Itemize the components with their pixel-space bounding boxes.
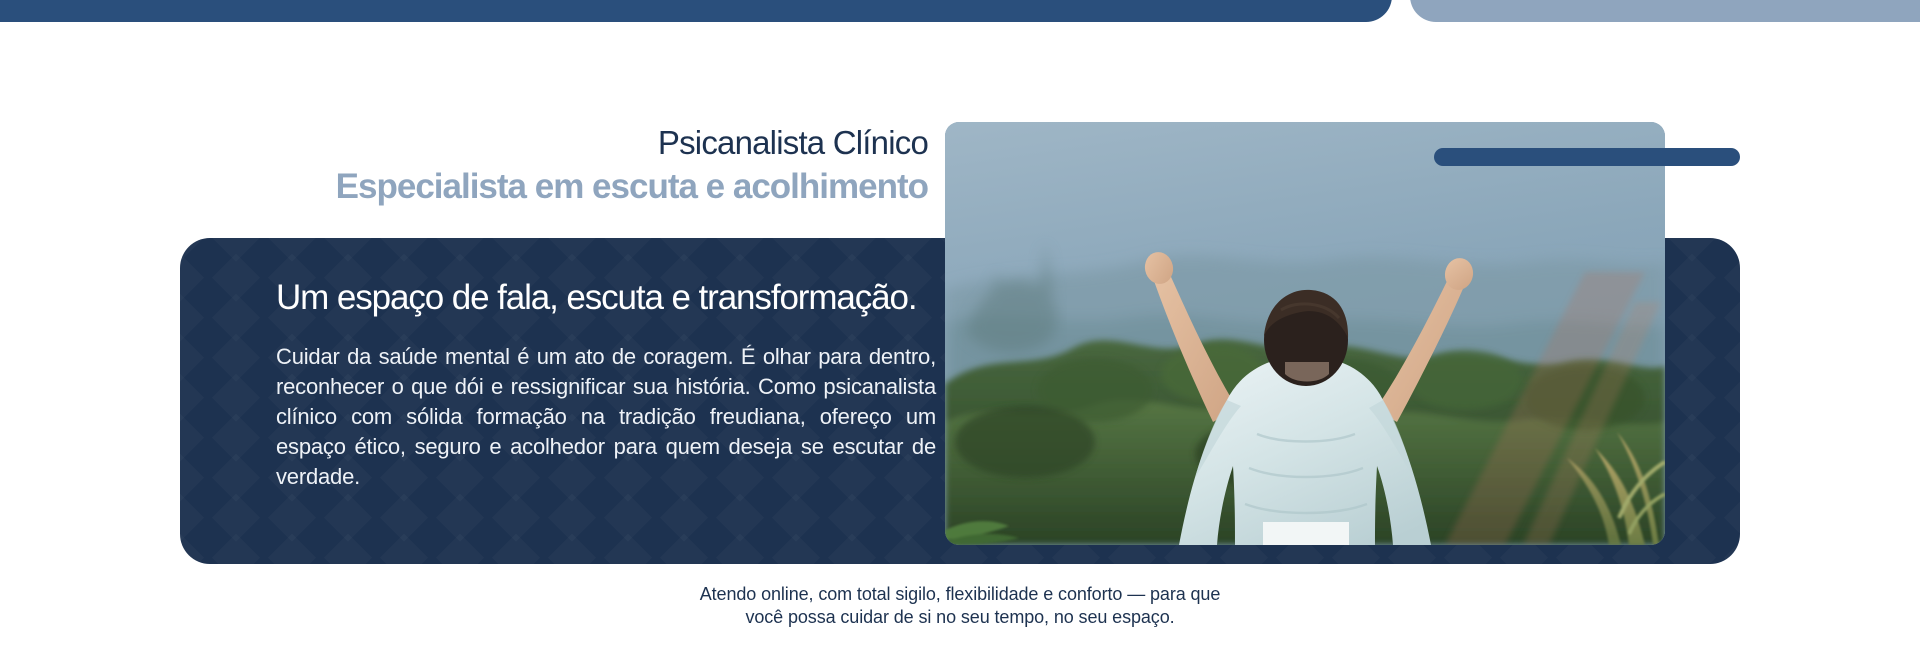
top-bar-secondary xyxy=(1410,0,1920,22)
page-kicker: Psicanalista Clínico xyxy=(0,123,928,163)
about-panel-content: Um espaço de fala, escuta e transformaçã… xyxy=(276,276,936,492)
footer-caption-line-1: Atendo online, com total sigilo, flexibi… xyxy=(0,583,1920,606)
footer-caption-line-2: você possa cuidar de si no seu tempo, no… xyxy=(0,606,1920,629)
top-decoration-bars xyxy=(0,0,1920,22)
about-panel-body: Cuidar da saúde mental é um ato de corag… xyxy=(276,342,936,492)
footer-caption: Atendo online, com total sigilo, flexibi… xyxy=(0,583,1920,629)
accent-pill-bar xyxy=(1434,148,1740,166)
about-panel-title: Um espaço de fala, escuta e transformaçã… xyxy=(276,276,936,320)
hero-photo xyxy=(945,122,1665,545)
hero-photo-illustration xyxy=(945,122,1665,545)
page-heading: Psicanalista Clínico Especialista em esc… xyxy=(0,123,928,211)
top-bar-primary xyxy=(0,0,1392,22)
page-subheading: Especialista em escuta e acolhimento xyxy=(0,163,928,211)
